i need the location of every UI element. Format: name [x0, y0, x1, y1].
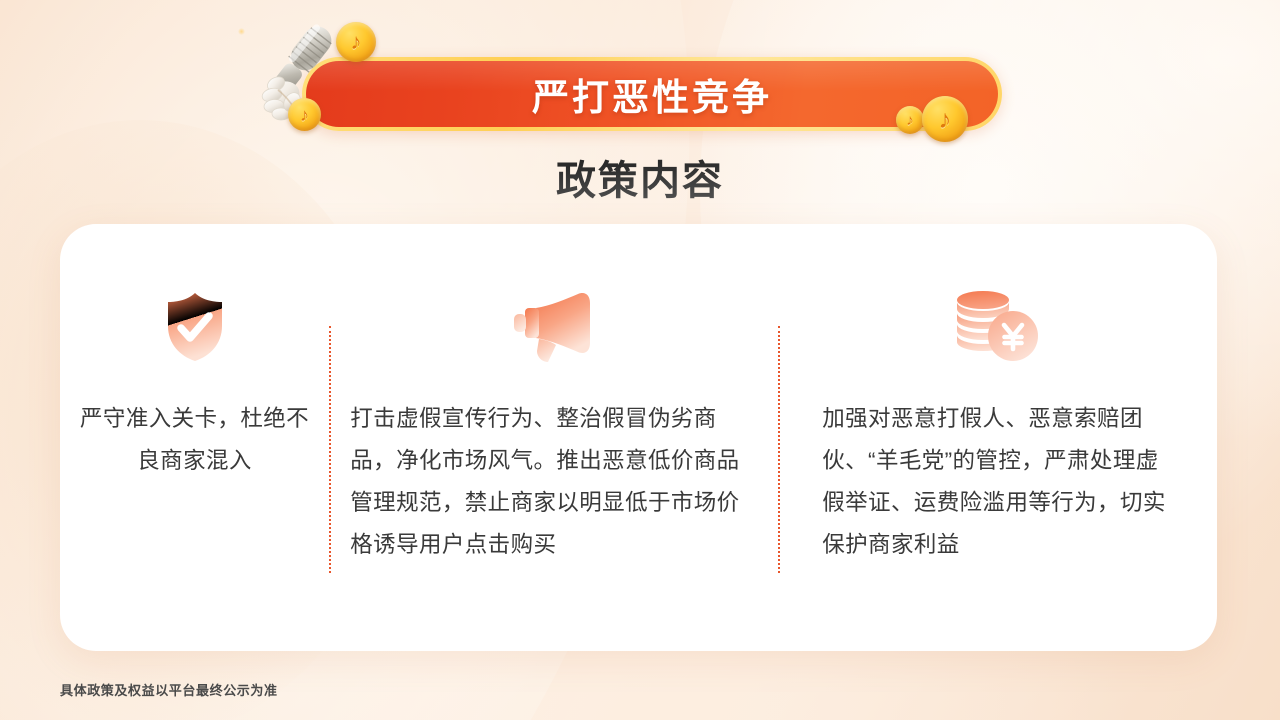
music-note-glyph: ♪: [939, 106, 952, 132]
policy-text-1: 严守准入关卡，杜绝不良商家混入: [77, 398, 312, 482]
sparkle-icon: [238, 28, 245, 35]
section-heading: 政策内容: [0, 148, 1280, 206]
megaphone-icon: [506, 290, 602, 364]
gold-coin-music-note-icon: ♪: [336, 22, 376, 62]
policy-content-card: 严守准入关卡，杜绝不良商家混入: [60, 224, 1217, 651]
policy-column-2: 打击虚假宣传行为、整治假冒伪劣商品，净化市场风气。推出恶意低价商品管理规范，禁止…: [331, 224, 777, 651]
footer-disclaimer: 具体政策及权益以平台最终公示为准: [60, 680, 278, 699]
policy-text-2: 打击虚假宣传行为、整治假冒伪劣商品，净化市场风气。推出恶意低价商品管理规范，禁止…: [350, 398, 758, 566]
policy-column-3: 加强对恶意打假人、恶意索赔团伙、“羊毛党”的管控，严肃处理虚假举证、运费险滥用等…: [780, 224, 1217, 651]
policy-column-1: 严守准入关卡，杜绝不良商家混入: [60, 224, 329, 651]
coin-stack-yuan-icon: [951, 290, 1045, 364]
gold-coin-music-note-icon: ♪: [896, 106, 924, 134]
music-note-glyph: ♪: [300, 106, 309, 124]
policy-text-3: 加强对恶意打假人、恶意索赔团伙、“羊毛党”的管控，严肃处理虚假举证、运费险滥用等…: [822, 398, 1174, 566]
policy-columns: 严守准入关卡，杜绝不良商家混入: [60, 224, 1217, 651]
music-note-glyph: ♪: [906, 113, 914, 128]
gold-coin-music-note-icon: ♪: [922, 96, 968, 142]
shield-check-icon: [160, 290, 230, 364]
gold-coin-music-note-icon: ♪: [288, 98, 321, 131]
music-note-glyph: ♪: [351, 31, 362, 53]
